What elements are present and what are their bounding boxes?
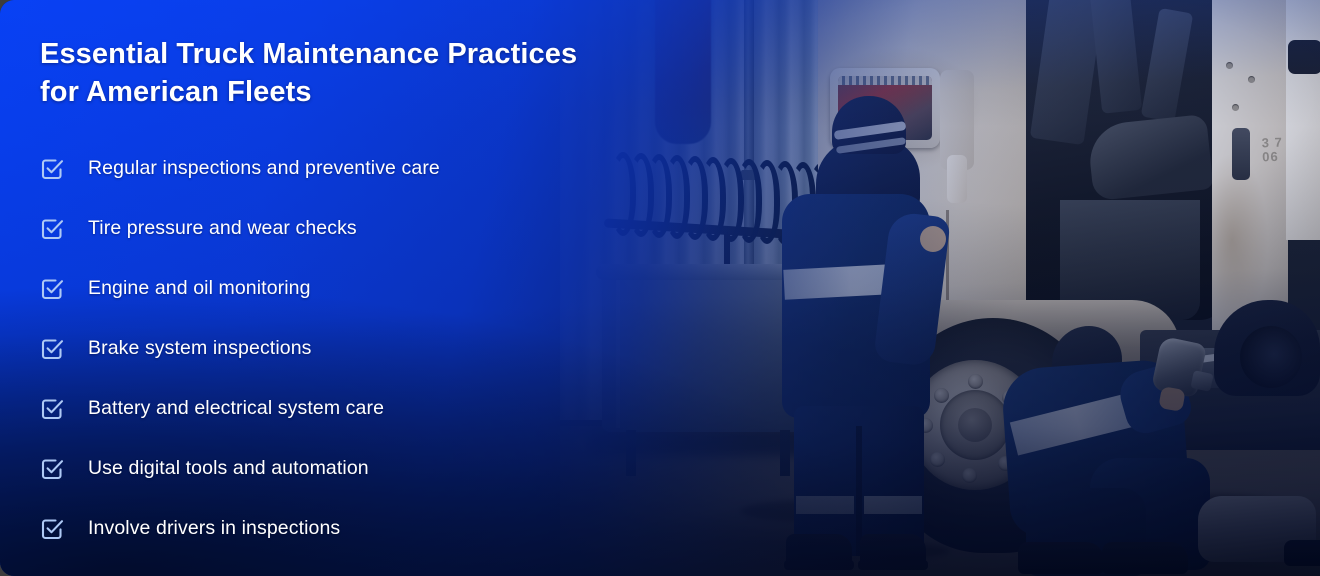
checklist-item: Regular inspections and preventive care: [40, 139, 700, 199]
checkbox-checked-icon: [40, 277, 64, 301]
checklist-item-label: Battery and electrical system care: [88, 397, 384, 420]
checkbox-checked-icon: [40, 457, 64, 481]
checklist-item-label: Tire pressure and wear checks: [88, 217, 357, 240]
checkbox-checked-icon: [40, 157, 64, 181]
title-line-2: for American Fleets: [40, 76, 312, 108]
checklist-item-label: Involve drivers in inspections: [88, 517, 340, 540]
checklist-item: Engine and oil monitoring: [40, 259, 700, 319]
checklist-item-label: Use digital tools and automation: [88, 457, 369, 480]
page-title: Essential Truck Maintenance Practicesfor…: [40, 36, 660, 112]
content-panel: Essential Truck Maintenance Practicesfor…: [0, 0, 700, 576]
checkbox-checked-icon: [40, 517, 64, 541]
checklist-item-label: Engine and oil monitoring: [88, 277, 311, 300]
title-line-1: Essential Truck Maintenance Practices: [40, 38, 577, 70]
checkbox-checked-icon: [40, 397, 64, 421]
checklist-item-label: Brake system inspections: [88, 337, 312, 360]
checklist-item: Tire pressure and wear checks: [40, 199, 700, 259]
infographic-banner: 3 706: [0, 0, 1320, 576]
checklist-item: Brake system inspections: [40, 319, 700, 379]
checklist-item: Use digital tools and automation: [40, 439, 700, 499]
checkbox-checked-icon: [40, 337, 64, 361]
checkbox-checked-icon: [40, 217, 64, 241]
checklist-item: Involve drivers in inspections: [40, 499, 700, 559]
checklist-item: Battery and electrical system care: [40, 379, 700, 439]
checklist-item-label: Regular inspections and preventive care: [88, 157, 440, 180]
checklist: Regular inspections and preventive careT…: [40, 139, 700, 559]
